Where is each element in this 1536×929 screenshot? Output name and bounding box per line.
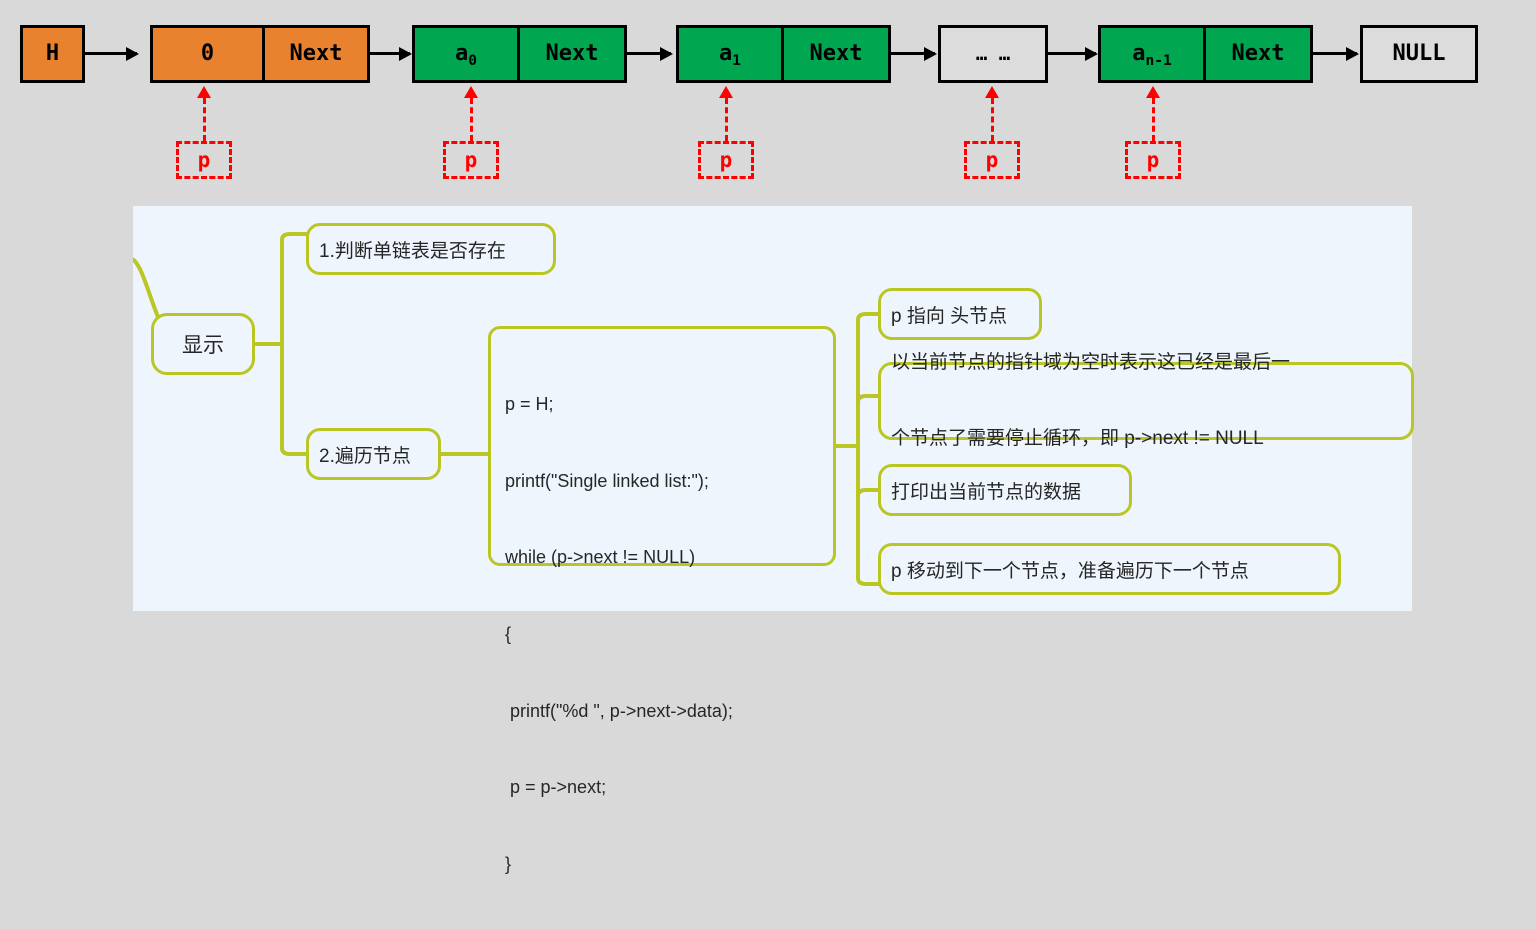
pointer-arrowhead-4 xyxy=(985,86,999,98)
pointer-arrowhead-3 xyxy=(719,86,733,98)
arrow-node2-to-ellipsis xyxy=(891,52,935,55)
pointer-stem-3 xyxy=(725,98,728,141)
node-2-next-label: Next xyxy=(810,43,863,65)
code-line-4: { xyxy=(505,622,733,648)
pointer-label-node-last: p xyxy=(1147,150,1160,171)
pointer-label-node-ellipsis: p xyxy=(986,150,999,171)
mindmap-branch-1[interactable]: 1.判断单链表是否存在 xyxy=(306,223,556,275)
pointer-label-node0: p xyxy=(198,150,211,171)
node-2-next-cell: Next xyxy=(781,25,891,83)
node-last-data-cell: an-1 xyxy=(1098,25,1206,83)
node-last-data-label: an-1 xyxy=(1132,43,1171,65)
mindmap-center-label: 显示 xyxy=(182,329,224,359)
code-line-7: } xyxy=(505,852,733,878)
mindmap-panel: 显示 1.判断单链表是否存在 2.遍历节点 p = H; printf("Sin… xyxy=(133,206,1412,611)
mindmap-note-4[interactable]: p 移动到下一个节点，准备遍历下一个节点 xyxy=(878,543,1341,595)
code-line-3: while (p->next != NULL) xyxy=(505,545,733,571)
node-0-data-cell: 0 xyxy=(150,25,265,83)
arrow-ellipsis-to-last xyxy=(1048,52,1096,55)
code-line-1: p = H; xyxy=(505,392,733,418)
node-2-data-label: a1 xyxy=(719,43,741,65)
mindmap-note-3-label: 打印出当前节点的数据 xyxy=(891,477,1081,504)
pointer-arrowhead-1 xyxy=(197,86,211,98)
node-1-data-cell: a0 xyxy=(412,25,520,83)
arrow-node0-to-node1 xyxy=(370,52,410,55)
node-last-next-cell: Next xyxy=(1203,25,1313,83)
code-line-5: printf("%d ", p->next->data); xyxy=(505,699,733,725)
mindmap-note-4-label: p 移动到下一个节点，准备遍历下一个节点 xyxy=(891,556,1249,583)
pointer-arrowhead-2 xyxy=(464,86,478,98)
arrow-head-to-node0 xyxy=(85,52,137,55)
mindmap-branch-2[interactable]: 2.遍历节点 xyxy=(306,428,441,480)
pointer-label-node2: p xyxy=(720,150,733,171)
mindmap-branch-1-label: 1.判断单链表是否存在 xyxy=(319,236,506,263)
pointer-arrowhead-5 xyxy=(1146,86,1160,98)
code-line-2: printf("Single linked list:"); xyxy=(505,469,733,495)
mindmap-branch-2-label: 2.遍历节点 xyxy=(319,441,411,468)
arrow-last-to-null xyxy=(1313,52,1357,55)
pointer-box-node1: p xyxy=(443,141,499,179)
node-2-data-cell: a1 xyxy=(676,25,784,83)
arrow-node1-to-node2 xyxy=(627,52,671,55)
mindmap-code-text: p = H; printf("Single linked list:"); wh… xyxy=(505,341,733,929)
pointer-box-node0: p xyxy=(176,141,232,179)
node-last-next-label: Next xyxy=(1232,43,1285,65)
node-0-next-label: Next xyxy=(290,43,343,65)
pointer-stem-5 xyxy=(1152,98,1155,141)
mindmap-note-2[interactable]: 以当前节点的指针域为空时表示这已经是最后一 个节点了需要停止循环，即 p->ne… xyxy=(878,362,1414,440)
mindmap-center-node[interactable]: 显示 xyxy=(151,313,255,375)
node-0-data-label: 0 xyxy=(201,43,214,65)
pointer-stem-2 xyxy=(470,98,473,141)
mindmap-code-block[interactable]: p = H; printf("Single linked list:"); wh… xyxy=(488,326,836,566)
mindmap-note-3[interactable]: 打印出当前节点的数据 xyxy=(878,464,1132,516)
node-1-next-cell: Next xyxy=(517,25,627,83)
pointer-box-node2: p xyxy=(698,141,754,179)
connector-trunk-to-branch2 xyxy=(282,440,309,454)
mindmap-note-2-line-1: 以当前节点的指针域为空时表示这已经是最后一 xyxy=(891,350,1290,375)
pointer-stem-4 xyxy=(991,98,994,141)
linked-list-diagram: H 0 Next a0 Next a1 Next … … an-1 Next N… xyxy=(0,0,1536,200)
code-line-6: p = p->next; xyxy=(505,775,733,801)
head-pointer-label: H xyxy=(46,43,59,65)
null-terminator-box: NULL xyxy=(1360,25,1478,83)
node-0-next-cell: Next xyxy=(262,25,370,83)
pointer-box-node-last: p xyxy=(1125,141,1181,179)
pointer-box-node-ellipsis: p xyxy=(964,141,1020,179)
node-1-data-label: a0 xyxy=(455,43,477,65)
pointer-stem-1 xyxy=(203,98,206,141)
null-terminator-label: NULL xyxy=(1393,43,1446,65)
mindmap-note-2-line-2: 个节点了需要停止循环，即 p->next != NULL xyxy=(891,426,1290,451)
node-ellipsis-label: … … xyxy=(976,45,1010,64)
node-1-next-label: Next xyxy=(546,43,599,65)
pointer-label-node1: p xyxy=(465,150,478,171)
node-ellipsis-cell: … … xyxy=(938,25,1048,83)
connector-trunk-to-branch1 xyxy=(282,234,309,248)
head-pointer-box: H xyxy=(20,25,85,83)
